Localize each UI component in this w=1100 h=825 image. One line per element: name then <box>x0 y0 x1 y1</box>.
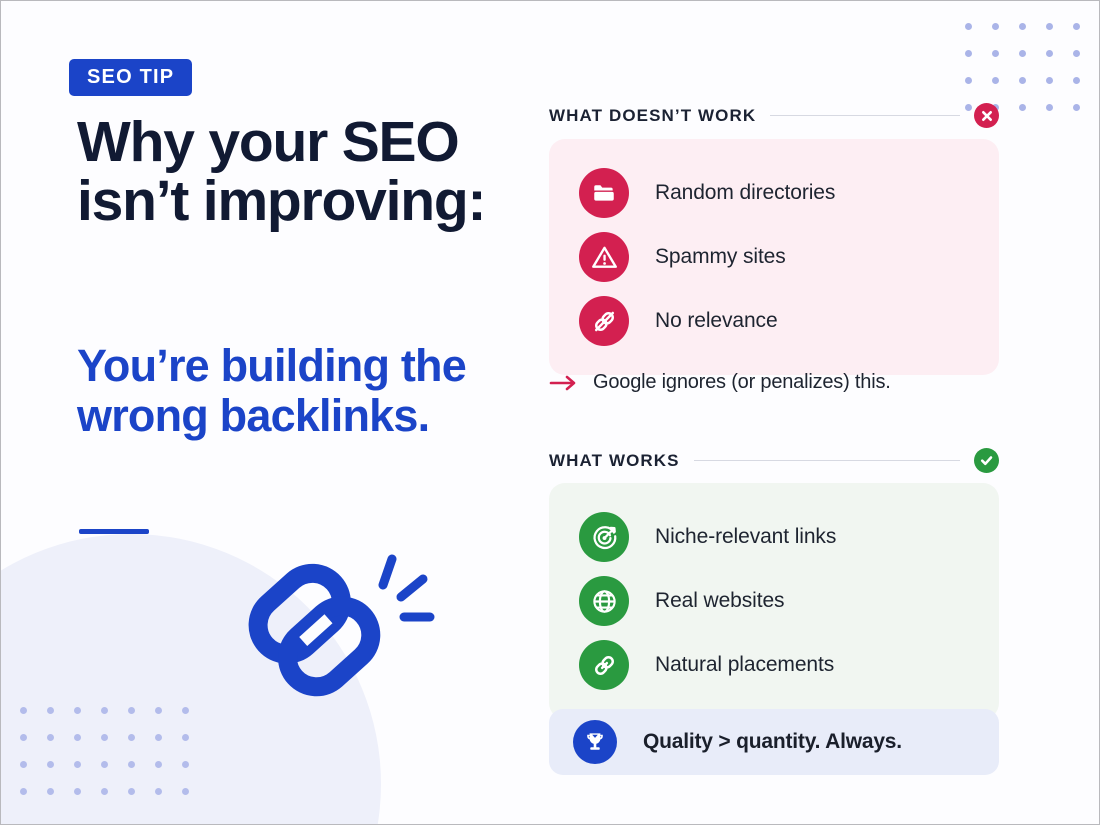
list-item: Spammy sites <box>549 225 999 289</box>
section-rule-good <box>694 460 960 462</box>
penalty-note: Google ignores (or penalizes) this. <box>549 371 891 394</box>
arrow-right-icon <box>549 374 579 392</box>
section-rule-bad <box>770 115 960 117</box>
dot <box>1019 104 1026 111</box>
list-item-label: No relevance <box>655 309 778 333</box>
penalty-note-text: Google ignores (or penalizes) this. <box>593 371 891 394</box>
check-circle-icon <box>974 448 999 473</box>
list-item-label: Spammy sites <box>655 245 786 269</box>
dot <box>1046 104 1053 111</box>
broken-link-icon <box>579 296 629 346</box>
quality-banner-text: Quality > quantity. Always. <box>643 730 902 754</box>
list-item: Natural placements <box>549 633 999 697</box>
dot <box>1046 50 1053 57</box>
section-title-good: WHAT WORKS <box>549 451 680 471</box>
card-what-works: Niche-relevant links Real websites <box>549 483 999 719</box>
dot <box>1073 104 1080 111</box>
globe-icon <box>579 576 629 626</box>
dot <box>1073 77 1080 84</box>
list-item: Niche-relevant links <box>549 505 999 569</box>
target-icon <box>579 512 629 562</box>
list-item: No relevance <box>549 289 999 353</box>
trophy-icon <box>573 720 617 764</box>
page-subtitle: You’re building the wrong backlinks. <box>77 341 507 442</box>
infographic-canvas: SEO TIP Why your SEO isn’t improving: Yo… <box>0 0 1100 825</box>
right-panel: WHAT DOESN’T WORK Random directories <box>549 1 999 825</box>
list-item: Real websites <box>549 569 999 633</box>
left-panel: SEO TIP Why your SEO isn’t improving: Yo… <box>1 1 521 825</box>
accent-divider <box>79 529 149 534</box>
list-item: Random directories <box>549 161 999 225</box>
list-item-label: Random directories <box>655 181 835 205</box>
close-circle-icon <box>974 103 999 128</box>
list-item-label: Natural placements <box>655 653 834 677</box>
section-title-bad: WHAT DOESN’T WORK <box>549 106 756 126</box>
dot <box>1046 23 1053 30</box>
quality-banner: Quality > quantity. Always. <box>549 709 999 775</box>
dot <box>1019 77 1026 84</box>
dot <box>1046 77 1053 84</box>
seo-tip-badge: SEO TIP <box>69 59 192 96</box>
section-header-good: WHAT WORKS <box>549 448 999 473</box>
chain-links-icon <box>227 547 437 722</box>
folder-icon <box>579 168 629 218</box>
warning-triangle-icon <box>579 232 629 282</box>
section-header-bad: WHAT DOESN’T WORK <box>549 103 999 128</box>
list-item-label: Real websites <box>655 589 784 613</box>
dot <box>1073 50 1080 57</box>
card-what-doesnt-work: Random directories Spammy sites <box>549 139 999 375</box>
link-icon <box>579 640 629 690</box>
list-item-label: Niche-relevant links <box>655 525 836 549</box>
page-title: Why your SEO isn’t improving: <box>77 113 507 230</box>
dot <box>1073 23 1080 30</box>
dot <box>1019 23 1026 30</box>
dot <box>1019 50 1026 57</box>
